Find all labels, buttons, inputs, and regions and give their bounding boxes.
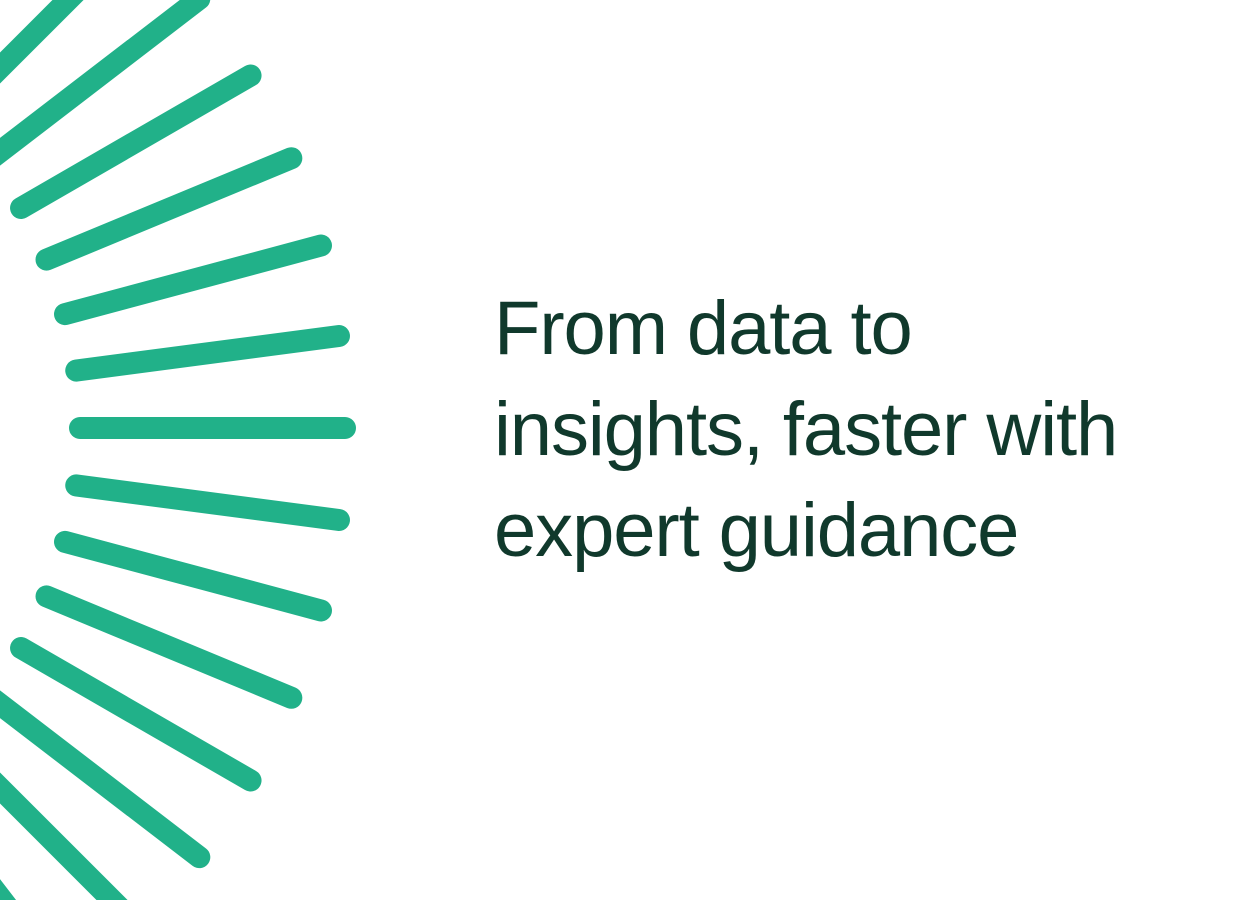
sunburst-line [0,777,69,900]
headline-line-3: expert guidance [494,480,1194,581]
sunburst-line [0,739,139,900]
sunburst-line [65,246,321,315]
sunburst-line-group [0,0,345,900]
sunburst-line [21,76,251,209]
sunburst-line [65,542,321,611]
decorative-sunburst-graphic [0,0,520,900]
headline-line-2: insights, faster with [494,379,1194,480]
sunburst-line [76,336,339,371]
sunburst-line [0,0,139,117]
sunburst-line [47,596,292,697]
sunburst-svg [0,0,520,900]
sunburst-line [0,0,69,79]
headline-line-1: From data to [494,278,1194,379]
slide-canvas: From data to insights, faster with exper… [0,0,1240,900]
sunburst-line [76,485,339,520]
sunburst-line [47,158,292,259]
sunburst-line [21,648,251,781]
sunburst-line [0,0,199,160]
sunburst-line [0,696,199,857]
page-title: From data to insights, faster with exper… [494,278,1194,581]
